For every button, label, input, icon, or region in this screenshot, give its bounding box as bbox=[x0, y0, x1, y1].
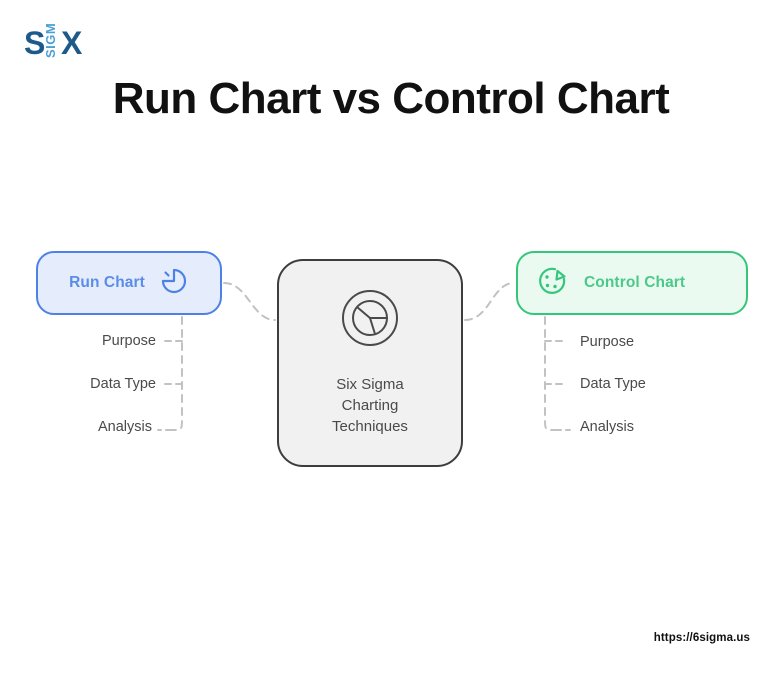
pie-chart-circle-icon bbox=[341, 289, 399, 352]
pie-chart-slice-icon bbox=[159, 266, 189, 301]
left-branch-label-analysis[interactable]: Analysis bbox=[98, 419, 152, 435]
left-branch-label-purpose[interactable]: Purpose bbox=[102, 333, 156, 349]
node-center[interactable]: Six Sigma Charting Techniques bbox=[277, 259, 463, 467]
right-branch-label-analysis[interactable]: Analysis bbox=[580, 419, 634, 435]
right-branch-spine bbox=[545, 317, 555, 430]
diagram-canvas: Run Chart Six Sigma Charting Techniques bbox=[0, 0, 782, 687]
pie-chart-dots-icon bbox=[536, 265, 568, 302]
right-branch-label-data-type[interactable]: Data Type bbox=[580, 376, 646, 392]
footer-url[interactable]: https://6sigma.us bbox=[654, 632, 750, 644]
node-run-chart-label: Run Chart bbox=[69, 274, 145, 292]
left-branch-spine bbox=[172, 317, 182, 430]
node-control-chart[interactable]: Control Chart bbox=[516, 251, 748, 315]
connector-left-to-center bbox=[224, 283, 275, 320]
node-control-chart-label: Control Chart bbox=[584, 274, 685, 292]
left-branch-label-data-type[interactable]: Data Type bbox=[90, 376, 156, 392]
connector-center-to-right bbox=[465, 283, 514, 320]
node-run-chart[interactable]: Run Chart bbox=[36, 251, 222, 315]
node-center-label: Six Sigma Charting Techniques bbox=[332, 374, 408, 437]
right-branch-label-purpose[interactable]: Purpose bbox=[580, 334, 634, 350]
